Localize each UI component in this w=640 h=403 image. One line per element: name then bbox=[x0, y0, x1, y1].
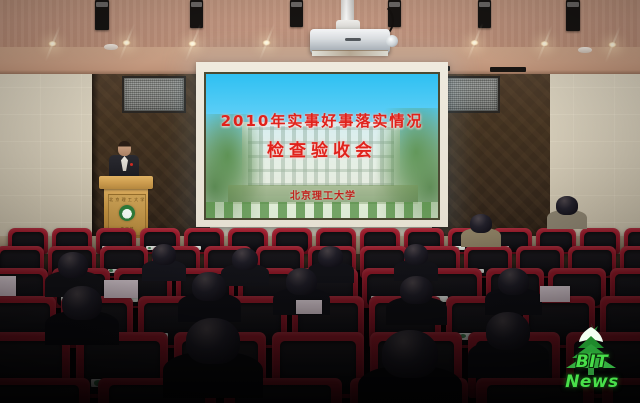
slide-banner-text: 北京理工大学 bbox=[228, 187, 418, 202]
attendee-head bbox=[186, 318, 240, 364]
university-emblem-icon bbox=[119, 205, 135, 221]
attendee-head bbox=[498, 268, 529, 295]
attendee-head bbox=[470, 214, 492, 233]
attendee-head bbox=[232, 248, 258, 270]
seat-cushion bbox=[613, 385, 640, 403]
ceiling-vent-3 bbox=[490, 67, 526, 72]
attendee-head bbox=[152, 244, 176, 265]
presenter-lapel-pin bbox=[130, 163, 133, 166]
auditorium-seat bbox=[602, 378, 640, 403]
wall-speaker-grille-1 bbox=[122, 76, 186, 113]
ceiling-sensor-2 bbox=[578, 47, 592, 53]
projector-lens bbox=[386, 35, 398, 47]
auditorium-seat bbox=[0, 378, 90, 403]
slide-title-line-2: 检查验收会 bbox=[206, 136, 438, 161]
handout-paper bbox=[296, 300, 322, 314]
ceiling-spotlight-6 bbox=[566, 0, 580, 31]
attendee-head bbox=[556, 196, 578, 215]
attendee-head bbox=[192, 272, 226, 301]
seat-cushion bbox=[487, 385, 584, 403]
ceiling-sensor-1 bbox=[104, 44, 118, 50]
attendee-head bbox=[286, 268, 317, 295]
handout-paper bbox=[104, 280, 138, 298]
projection-screen: 北京理工大学 2010年实事好事落实情况 检查验收会 bbox=[206, 74, 438, 218]
auditorium-scene: 北京理工大学 2010年实事好事落实情况 检查验收会 北 京 理 工 大 学 教… bbox=[0, 0, 640, 403]
ceiling-spotlight-1 bbox=[95, 0, 109, 30]
handout-paper bbox=[0, 276, 16, 296]
lectern-plaque-top-text: 北 京 理 工 大 学 bbox=[109, 197, 145, 203]
lectern-top bbox=[99, 176, 153, 189]
auditorium-seat bbox=[476, 378, 594, 403]
attendee-head bbox=[404, 244, 428, 265]
slide-shrub-row bbox=[206, 202, 438, 218]
wall-edge-shadow-left bbox=[92, 74, 99, 254]
attendee-head bbox=[400, 276, 433, 304]
slide-title-line-1: 2010年实事好事落实情况 bbox=[206, 110, 438, 131]
attendee-head bbox=[58, 252, 88, 278]
seat-cushion bbox=[0, 385, 79, 403]
attendee-head bbox=[318, 246, 343, 267]
projector-vent-strip bbox=[312, 50, 388, 56]
handout-paper bbox=[540, 286, 570, 302]
attendee-head bbox=[62, 286, 102, 320]
attendee-head bbox=[486, 312, 530, 350]
presenter-head bbox=[118, 141, 131, 156]
attendee-head bbox=[382, 330, 438, 378]
ceiling-spotlight-3 bbox=[290, 0, 303, 27]
